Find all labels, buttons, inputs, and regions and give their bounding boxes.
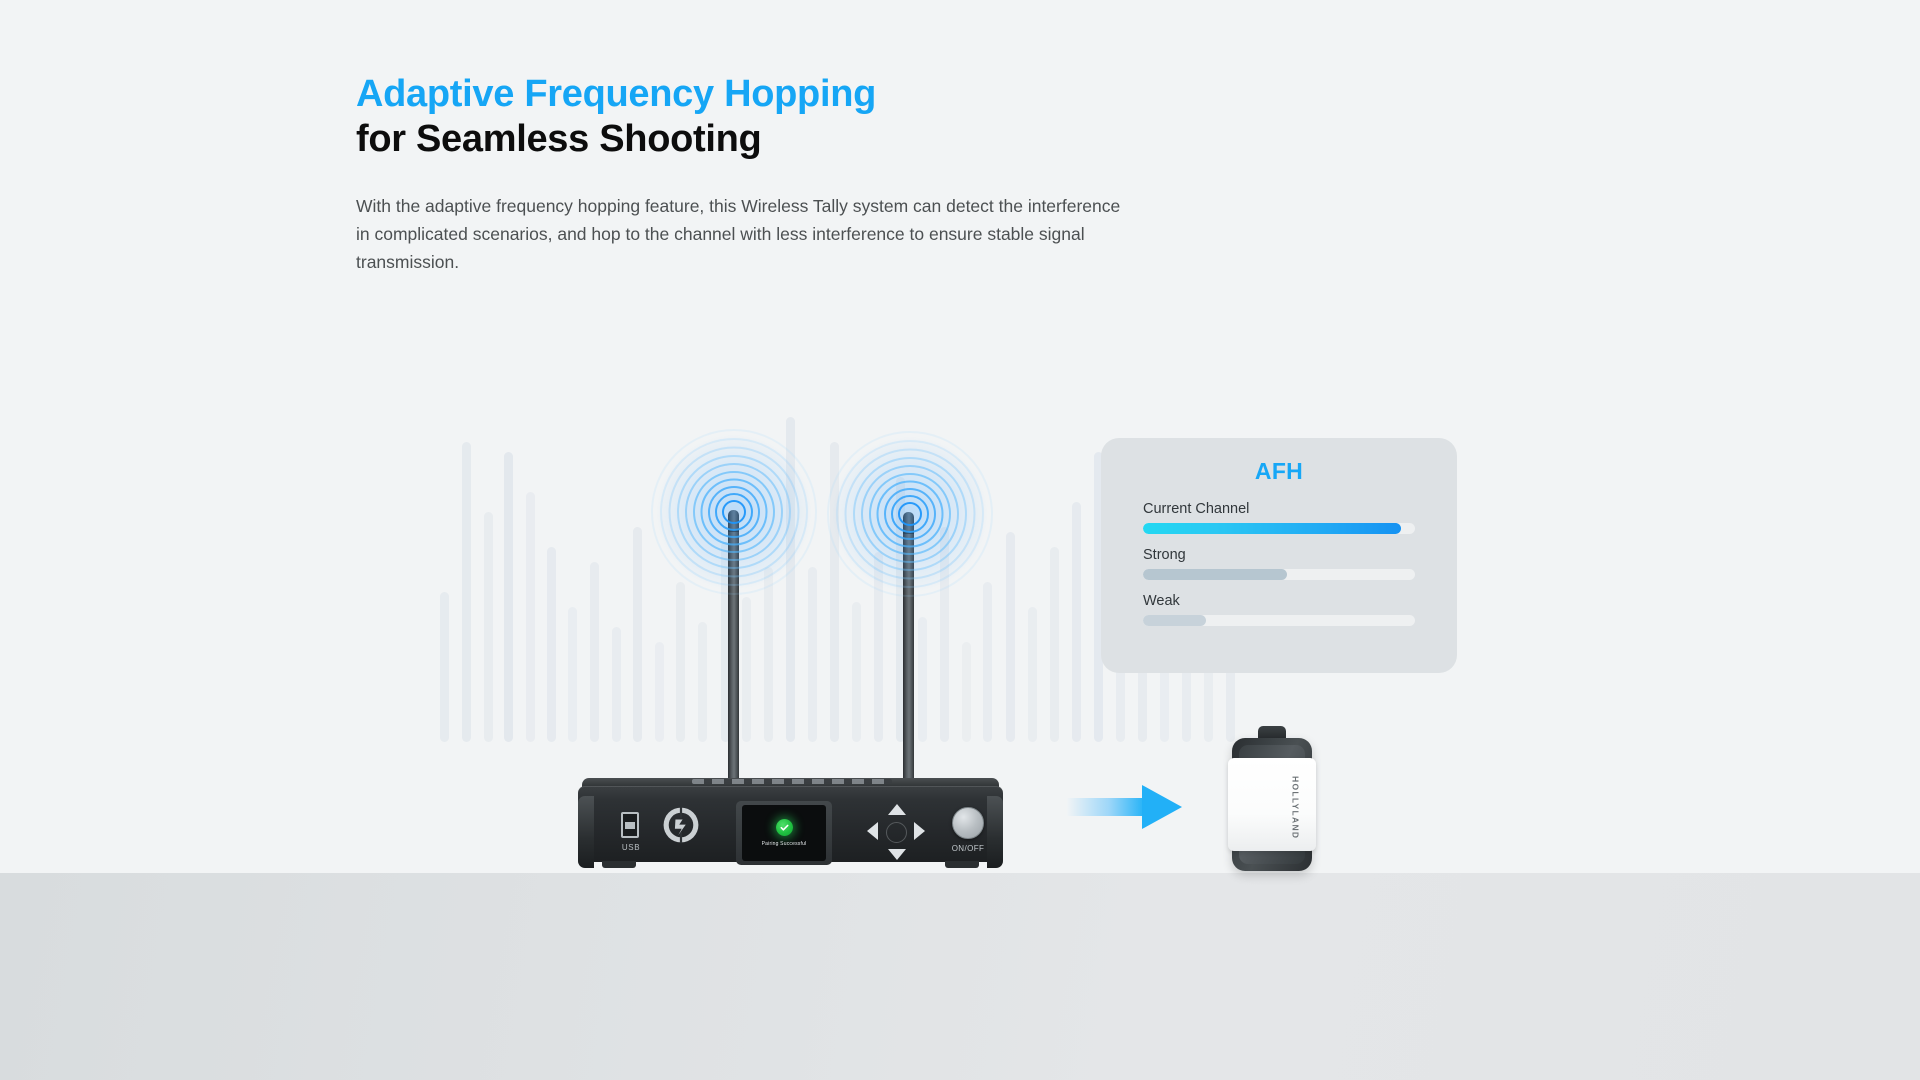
check-icon <box>776 819 793 836</box>
arrow-shaft <box>1067 798 1143 816</box>
waveform-bar <box>547 547 556 742</box>
waveform-bar <box>918 617 927 742</box>
waveform-bar <box>764 567 773 742</box>
afh-fill-current-channel <box>1143 523 1401 534</box>
waveform-bar <box>676 582 685 742</box>
afh-track-current-channel <box>1143 523 1415 534</box>
power-button-label: ON/OFF <box>938 844 998 853</box>
waveform-bar <box>484 512 493 742</box>
waveform-bar <box>698 622 707 742</box>
waveform-bar <box>852 602 861 742</box>
receiver-right-side <box>987 796 1003 868</box>
receiver-status-text: Pairing Successful <box>762 841 807 847</box>
waveform-bar <box>462 442 471 742</box>
waveform-bar <box>874 552 883 742</box>
chevron-up-icon[interactable] <box>888 804 906 815</box>
receiver-display: Pairing Successful <box>742 805 826 861</box>
headline-block: Adaptive Frequency Hopping for Seamless … <box>356 72 1176 276</box>
transmitter-device: HOLLYLAND <box>1228 726 1316 871</box>
waveform-bar <box>742 597 751 742</box>
afh-fill-strong <box>1143 569 1287 580</box>
receiver-device: USB Pairing Success <box>578 778 1003 870</box>
waveform-bar <box>940 527 949 742</box>
receiver-left-side <box>578 796 594 868</box>
hollyland-logo-icon <box>662 806 700 844</box>
waveform-bar <box>526 492 535 742</box>
chevron-left-icon[interactable] <box>867 822 878 840</box>
receiver-foot-right <box>945 861 979 868</box>
waveform-bar <box>1072 502 1081 742</box>
antenna-left <box>728 510 739 788</box>
waveform-bar <box>504 452 513 742</box>
afh-fill-weak <box>1143 615 1206 626</box>
chevron-down-icon[interactable] <box>888 849 906 860</box>
arrow-head <box>1142 785 1182 829</box>
afh-label-weak: Weak <box>1143 593 1415 609</box>
waveform-bar <box>612 627 621 742</box>
body-paragraph: With the adaptive frequency hopping feat… <box>356 192 1131 276</box>
waveform-bar <box>808 567 817 742</box>
headline-line-1: Adaptive Frequency Hopping <box>356 72 1176 117</box>
receiver-display-bezel: Pairing Successful <box>736 801 832 865</box>
afh-track-weak <box>1143 615 1415 626</box>
waveform-bar <box>568 607 577 742</box>
afh-panel: AFH Current Channel Strong Weak <box>1101 438 1457 673</box>
afh-row-strong: Strong <box>1143 547 1415 580</box>
waveform-bar <box>962 642 971 742</box>
waveform-bar <box>633 527 642 742</box>
waveform-bar <box>1050 547 1059 742</box>
receiver-foot-left <box>602 861 636 868</box>
afh-track-strong <box>1143 569 1415 580</box>
power-button-icon[interactable] <box>952 807 984 839</box>
dpad-control[interactable] <box>866 803 926 861</box>
afh-label-strong: Strong <box>1143 547 1415 563</box>
waveform-bar <box>1006 532 1015 742</box>
afh-title: AFH <box>1143 458 1415 485</box>
floor-band <box>0 873 1920 1080</box>
transmitter-branding: HOLLYLAND <box>1287 772 1304 838</box>
dpad-center-button[interactable] <box>886 822 907 843</box>
receiver-top-vents <box>692 779 892 784</box>
usb-label: USB <box>614 843 648 852</box>
receiver-body: USB Pairing Success <box>578 786 1003 862</box>
afh-label-current-channel: Current Channel <box>1143 501 1415 517</box>
afh-row-weak: Weak <box>1143 593 1415 626</box>
antenna-right <box>903 512 914 788</box>
page-title: Adaptive Frequency Hopping for Seamless … <box>356 72 1176 162</box>
illustration-stage: Adaptive Frequency Hopping for Seamless … <box>0 0 1920 1080</box>
waveform-bar <box>983 582 992 742</box>
headline-line-2: for Seamless Shooting <box>356 117 1176 162</box>
chevron-right-icon[interactable] <box>914 822 925 840</box>
waveform-bar <box>830 442 839 742</box>
waveform-bar <box>655 642 664 742</box>
waveform-bar <box>786 417 795 742</box>
waveform-bar <box>590 562 599 742</box>
afh-row-current-channel: Current Channel <box>1143 501 1415 534</box>
transmitter-label-band: HOLLYLAND <box>1228 758 1316 851</box>
transmitter-brand-text: HOLLYLAND <box>1291 776 1301 839</box>
waveform-bar <box>1028 607 1037 742</box>
arrow-right-icon <box>1067 785 1182 829</box>
usb-port-icon <box>621 812 639 838</box>
waveform-bar <box>440 592 449 742</box>
